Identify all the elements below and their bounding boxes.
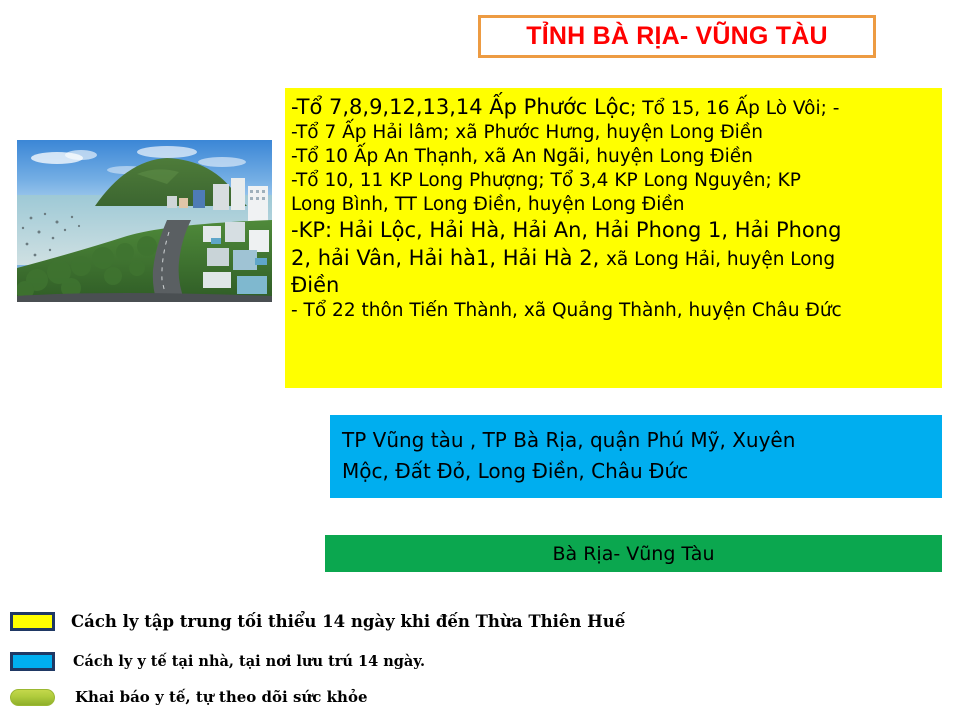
yellow-line-1-lead: -Tổ 7,8,9,12,13,14 Ấp Phước Lộc [291, 95, 630, 119]
blue-line-2: Mộc, Đất Đỏ, Long Điền, Châu Đức [342, 456, 942, 487]
legend-label-2: Cách ly y tế tại nhà, tại nơi lưu trú 14… [73, 653, 425, 670]
yellow-swatch-icon [10, 612, 55, 631]
yellow-line-7-lead: 2, hải Vân, Hải hà1, Hải Hà 2, [291, 246, 606, 270]
yellow-line-1-tail: ; Tổ 15, 16 Ấp Lò Vôi; - [630, 98, 839, 119]
vung-tau-photo [17, 140, 272, 302]
yellow-line-4: -Tổ 10, 11 KP Long Phượng; Tổ 3,4 KP Lon… [291, 169, 934, 193]
legend-item-health-declaration: Khai báo y tế, tự theo dõi sức khỏe [10, 688, 368, 706]
vung-tau-photo-illustration [17, 140, 272, 302]
legend-item-quarantine-centralized: Cách ly tập trung tối thiểu 14 ngày khi … [10, 612, 625, 631]
yellow-line-1: -Tổ 7,8,9,12,13,14 Ấp Phước Lộc; Tổ 15, … [291, 94, 934, 121]
yellow-line-7: 2, hải Vân, Hải hà1, Hải Hà 2, xã Long H… [291, 245, 934, 272]
yellow-line-7-tail: xã Long Hải, huyện Long [606, 249, 835, 270]
yellow-area-list-panel: -Tổ 7,8,9,12,13,14 Ấp Phước Lộc; Tổ 15, … [285, 88, 942, 388]
yellow-line-2: -Tổ 7 Ấp Hải lâm; xã Phước Hưng, huyện L… [291, 121, 934, 145]
legend-item-quarantine-home: Cách ly y tế tại nhà, tại nơi lưu trú 14… [10, 652, 425, 671]
yellow-line-9: - Tổ 22 thôn Tiến Thành, xã Quảng Thành,… [291, 299, 934, 323]
blue-line-1: TP Vũng tàu , TP Bà Rịa, quận Phú Mỹ, Xu… [342, 425, 942, 456]
legend-label-3: Khai báo y tế, tự theo dõi sức khỏe [75, 688, 368, 706]
blue-area-list-panel: TP Vũng tàu , TP Bà Rịa, quận Phú Mỹ, Xu… [330, 415, 942, 498]
green-province-panel: Bà Rịa- Vũng Tàu [325, 535, 942, 572]
yellow-line-6: -KP: Hải Lộc, Hải Hà, Hải An, Hải Phong … [291, 217, 934, 244]
yellow-line-5: Long Bình, TT Long Điền, huyện Long Điền [291, 193, 934, 217]
yellow-line-3: -Tổ 10 Ấp An Thạnh, xã An Ngãi, huyện Lo… [291, 145, 934, 169]
province-title-box: TỈNH BÀ RỊA- VŨNG TÀU [478, 15, 876, 58]
yellow-line-8: Điền [291, 272, 934, 299]
green-swatch-icon [10, 689, 55, 706]
blue-swatch-icon [10, 652, 55, 671]
legend-label-1: Cách ly tập trung tối thiểu 14 ngày khi … [71, 612, 625, 631]
green-panel-label: Bà Rịa- Vũng Tàu [553, 543, 715, 565]
page-title: TỈNH BÀ RỊA- VŨNG TÀU [526, 22, 827, 51]
